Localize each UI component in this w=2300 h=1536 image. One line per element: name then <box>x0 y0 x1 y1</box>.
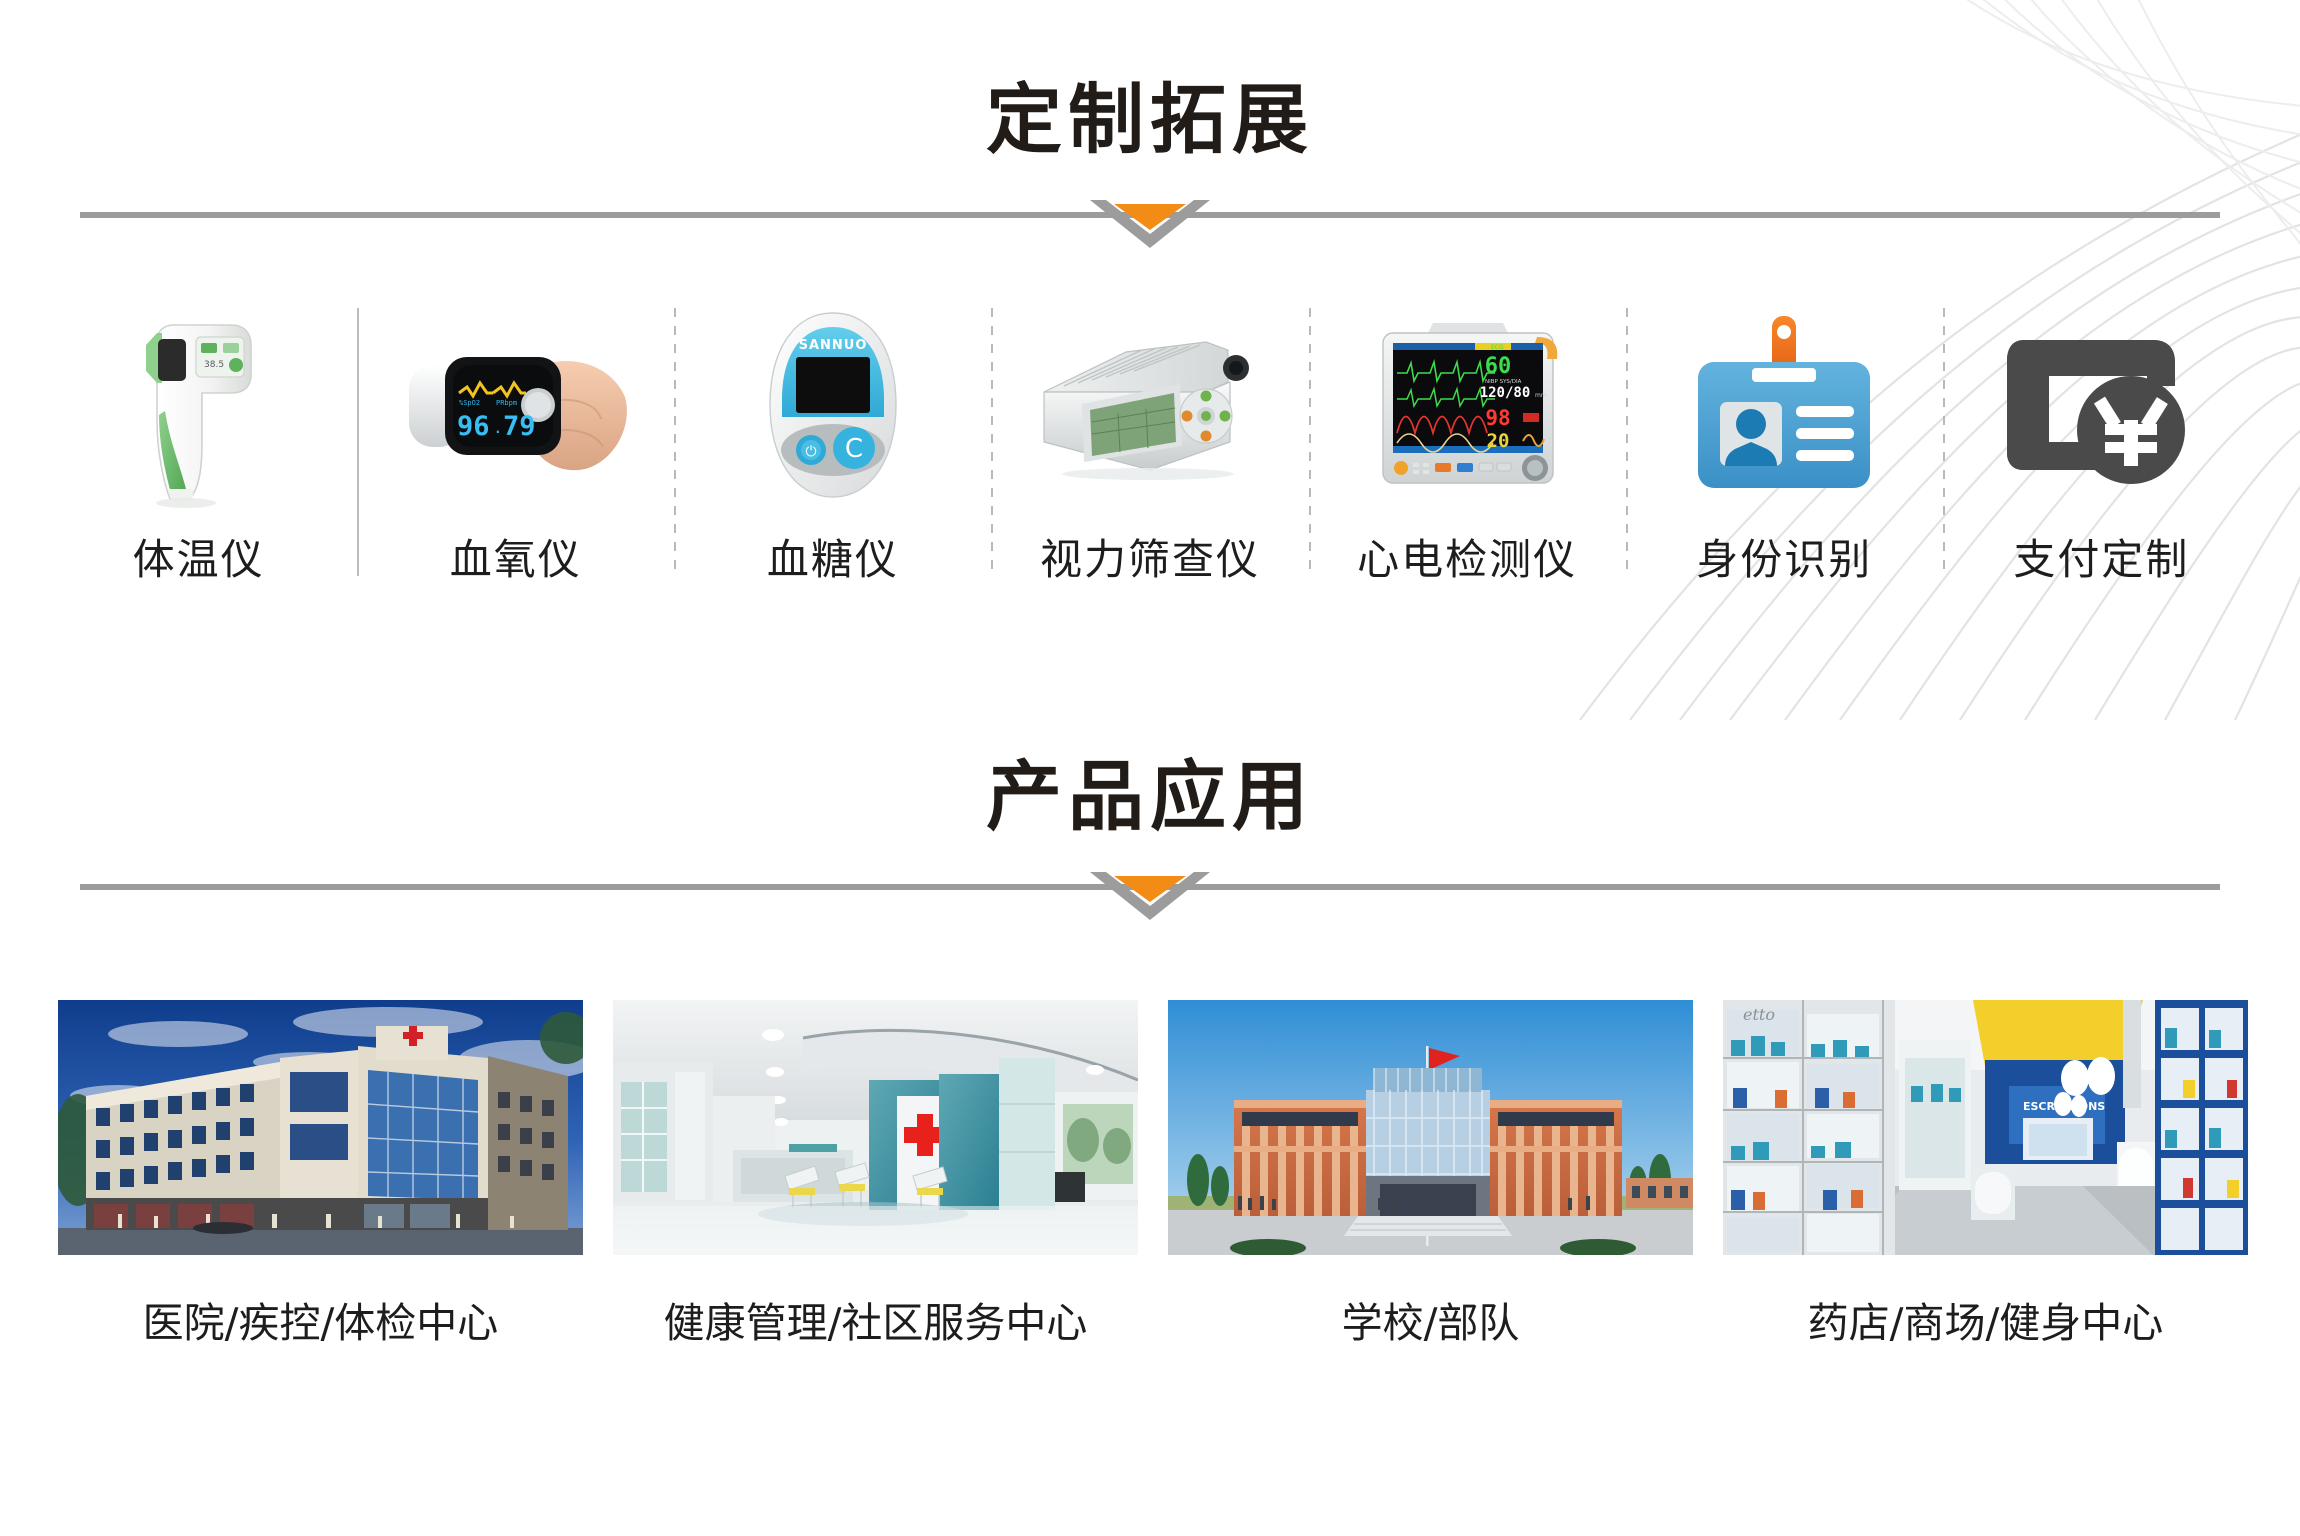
pulse-oximeter-icon: %SpO2 PRbpm 96 . 79 <box>357 300 674 510</box>
device-item-patient-monitor[interactable]: ECG 60 NIBP SYS/DIA 120/80 mm 98 20 <box>1309 300 1626 630</box>
id-card-icon <box>1626 300 1943 510</box>
poster-page: 定制拓展 <box>0 0 2300 1536</box>
divider-product-application <box>80 872 2220 902</box>
application-item-pharmacy[interactable]: ESCRIPTIONS <box>1723 1000 2248 1349</box>
svg-text:⏻: ⏻ <box>805 444 816 460</box>
svg-text:ECG: ECG <box>1491 344 1504 351</box>
svg-text:98: 98 <box>1485 406 1510 430</box>
device-label: 血糖仪 <box>767 526 899 587</box>
svg-text:mm: mm <box>1535 392 1547 399</box>
svg-text:%SpO2: %SpO2 <box>459 399 480 407</box>
divider-chevron-icon <box>1090 872 1210 924</box>
svg-text:SANNUO: SANNUO <box>798 338 867 353</box>
device-label: 身份识别 <box>1696 526 1872 587</box>
device-item-thermometer[interactable]: 38.5 体温仪 <box>40 300 357 630</box>
device-label: 体温仪 <box>133 526 265 587</box>
application-item-health-center[interactable]: 健康管理/社区服务中心 <box>613 1000 1138 1349</box>
device-label: 血氧仪 <box>450 526 582 587</box>
svg-text:20: 20 <box>1487 430 1510 452</box>
svg-text:120/80: 120/80 <box>1480 385 1531 401</box>
divider-chevron-icon <box>1090 200 1210 252</box>
hospital-exterior-photo <box>58 1000 583 1255</box>
section-title-product-application: 产品应用 <box>0 735 2300 845</box>
health-center-lobby-photo <box>613 1000 1138 1255</box>
divider-custom-expansion <box>80 200 2220 230</box>
svg-text:.: . <box>493 418 503 437</box>
svg-text:etto: etto <box>1743 1005 1775 1024</box>
device-label: 心电检测仪 <box>1357 526 1577 587</box>
device-item-glucose-meter[interactable]: SANNUO ⏻ C 血糖仪 <box>674 300 991 630</box>
device-label: 支付定制 <box>2013 526 2189 587</box>
device-item-payment[interactable]: 支付定制 <box>1943 300 2260 630</box>
infrared-thermometer-icon: 38.5 <box>40 300 357 510</box>
device-item-oximeter[interactable]: %SpO2 PRbpm 96 . 79 血氧仪 <box>357 300 674 630</box>
application-caption: 药店/商场/健身中心 <box>1723 1289 2248 1349</box>
svg-text:C: C <box>845 434 863 464</box>
svg-text:79: 79 <box>503 411 536 442</box>
svg-text:38.5: 38.5 <box>204 360 224 370</box>
pharmacy-interior-photo: ESCRIPTIONS <box>1723 1000 2248 1255</box>
application-photo-row: 医院/疾控/体检中心 <box>58 1000 2248 1349</box>
svg-text:PRbpm: PRbpm <box>496 399 517 407</box>
application-caption: 学校/部队 <box>1168 1289 1693 1349</box>
patient-monitor-icon: ECG 60 NIBP SYS/DIA 120/80 mm 98 20 <box>1309 300 1626 510</box>
application-caption: 医院/疾控/体检中心 <box>58 1289 583 1349</box>
glucose-meter-icon: SANNUO ⏻ C <box>674 300 991 510</box>
svg-text:60: 60 <box>1485 354 1512 379</box>
school-building-photo <box>1168 1000 1693 1255</box>
device-icon-row: 38.5 体温仪 <box>40 300 2260 630</box>
application-item-school[interactable]: 学校/部队 <box>1168 1000 1693 1349</box>
device-item-vision-screener[interactable]: 视力筛查仪 <box>991 300 1308 630</box>
application-item-hospital[interactable]: 医院/疾控/体检中心 <box>58 1000 583 1349</box>
svg-text:96: 96 <box>457 411 490 442</box>
device-label: 视力筛查仪 <box>1040 526 1260 587</box>
vision-screener-icon <box>991 300 1308 510</box>
application-caption: 健康管理/社区服务中心 <box>613 1289 1138 1349</box>
payment-wallet-yuan-icon <box>1943 300 2260 510</box>
section-title-custom-expansion: 定制拓展 <box>0 58 2300 168</box>
device-item-id-card[interactable]: 身份识别 <box>1626 300 1943 630</box>
